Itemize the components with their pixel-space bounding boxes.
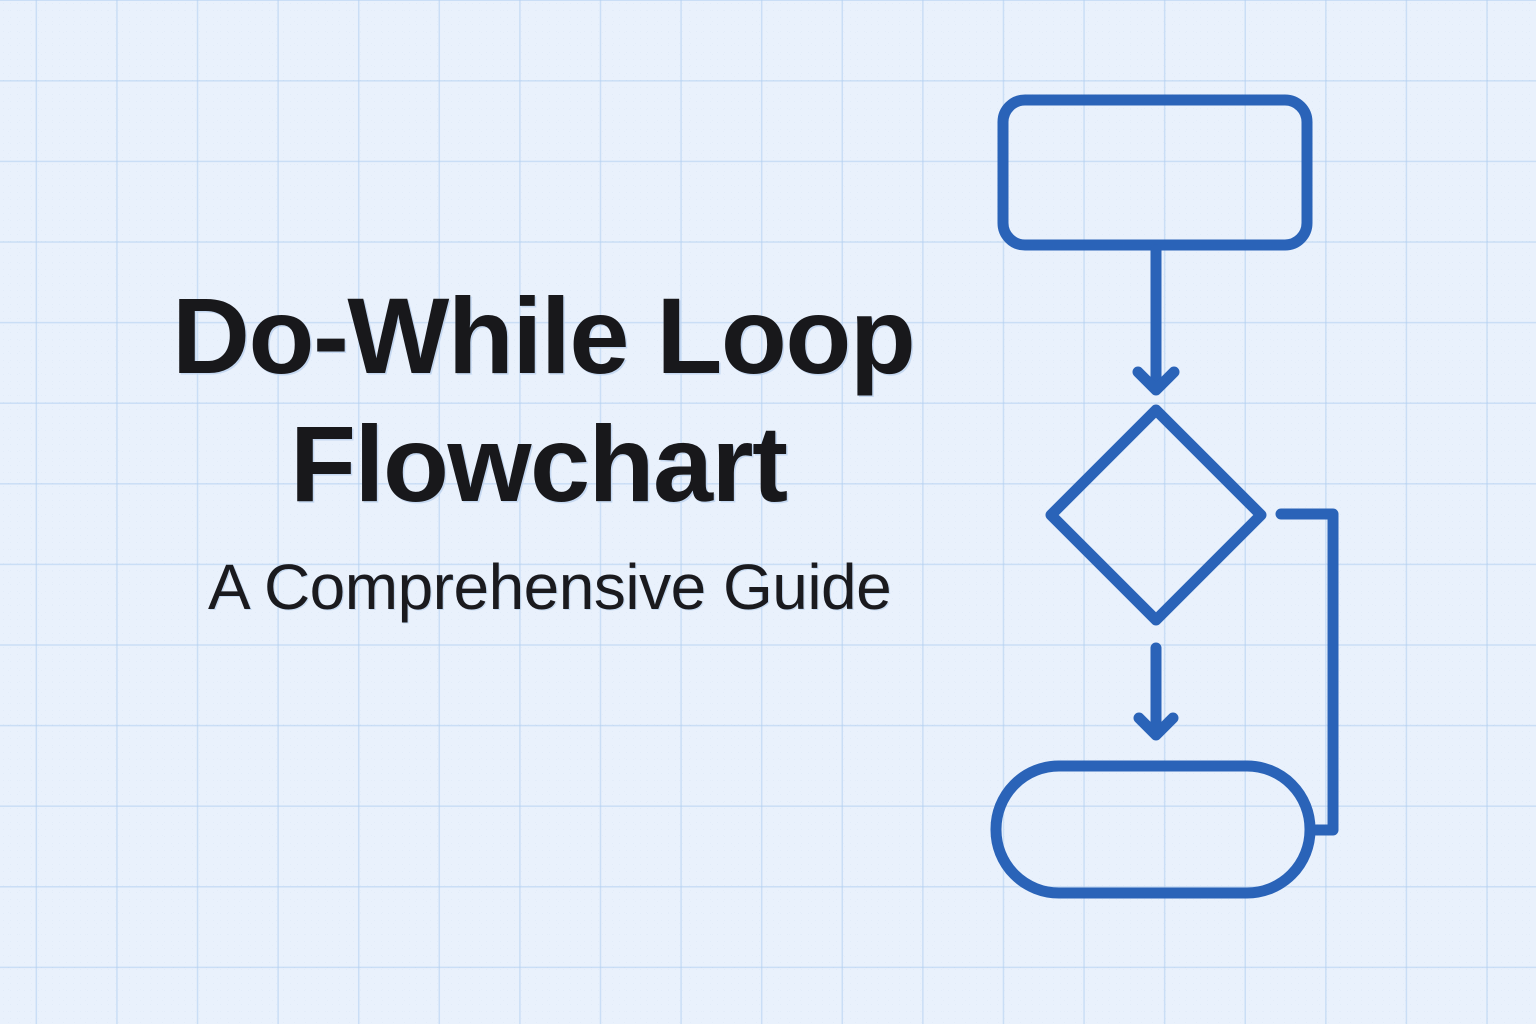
poster-canvas: Do-While Loop Flowchart A Comprehensive … [0, 0, 1536, 1024]
flowchart-node-terminator-pill[interactable] [996, 766, 1310, 893]
flowchart-node-process-box[interactable] [1003, 100, 1307, 245]
flowchart-node-decision-diamond[interactable] [1051, 410, 1261, 620]
flowchart-diagram [0, 0, 1536, 1024]
